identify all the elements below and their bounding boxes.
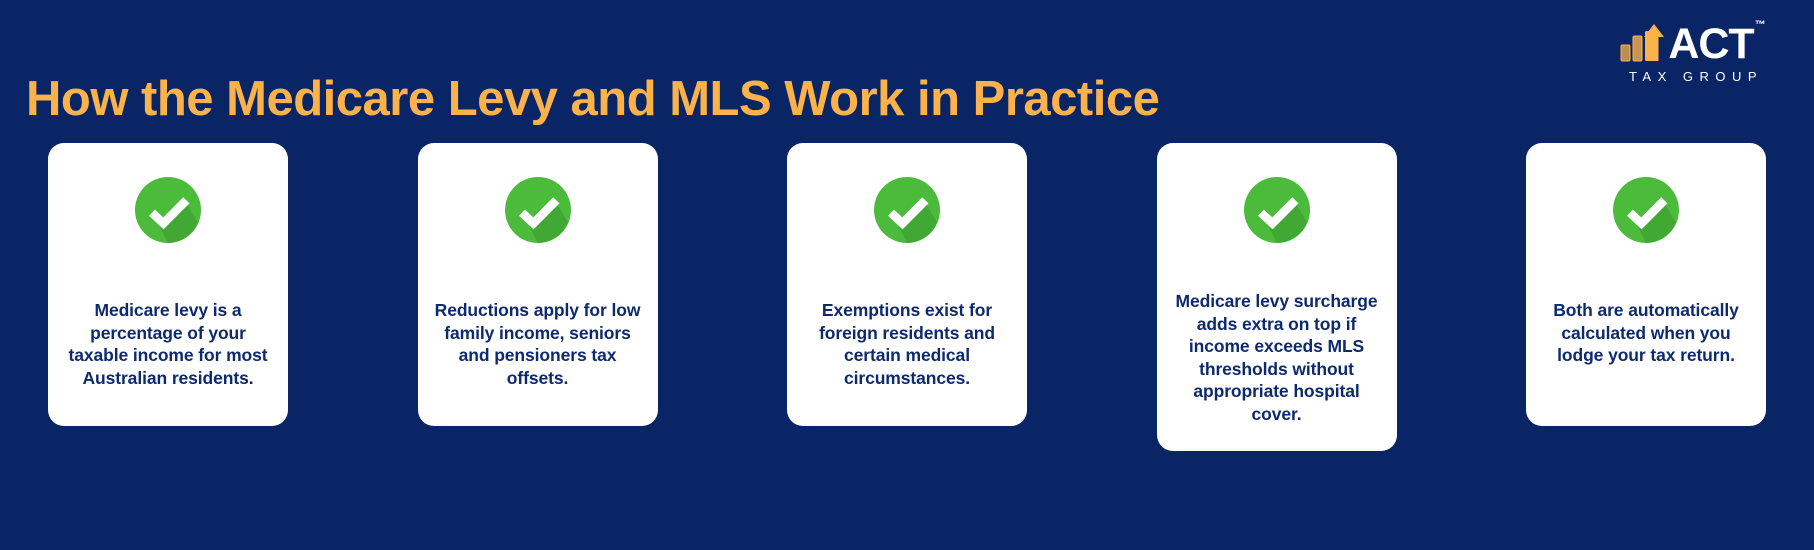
logo-brand-text: ACT xyxy=(1668,24,1753,64)
info-card: Both are automatically calculated when y… xyxy=(1526,143,1766,426)
info-card-text: Medicare levy is a percentage of your ta… xyxy=(64,299,272,389)
infographic-page: ACT ™ TAX GROUP How the Medicare Levy an… xyxy=(0,0,1814,550)
bar-chart-arrow-icon xyxy=(1620,23,1666,63)
green-check-circle-icon xyxy=(135,177,201,243)
info-card-text: Exemptions exist for foreign residents a… xyxy=(803,299,1011,389)
logo-primary-row: ACT ™ xyxy=(1620,18,1765,64)
cards-row: Medicare levy is a percentage of your ta… xyxy=(48,143,1766,451)
info-card-text: Medicare levy surcharge adds extra on to… xyxy=(1173,290,1381,425)
page-title: How the Medicare Levy and MLS Work in Pr… xyxy=(26,69,1159,129)
green-check-circle-icon xyxy=(1244,177,1310,243)
green-check-circle-icon xyxy=(505,177,571,243)
logo-tagline: TAX GROUP xyxy=(1629,69,1763,84)
info-card-text: Both are automatically calculated when y… xyxy=(1542,299,1750,367)
info-card: Exemptions exist for foreign residents a… xyxy=(787,143,1027,426)
info-card: Reductions apply for low family income, … xyxy=(418,143,658,426)
act-tax-group-logo: ACT ™ TAX GROUP xyxy=(1598,18,1788,84)
green-check-circle-icon xyxy=(1613,177,1679,243)
info-card: Medicare levy surcharge adds extra on to… xyxy=(1157,143,1397,451)
logo-trademark-symbol: ™ xyxy=(1755,20,1766,31)
green-check-circle-icon xyxy=(874,177,940,243)
info-card: Medicare levy is a percentage of your ta… xyxy=(48,143,288,426)
info-card-text: Reductions apply for low family income, … xyxy=(434,299,642,389)
